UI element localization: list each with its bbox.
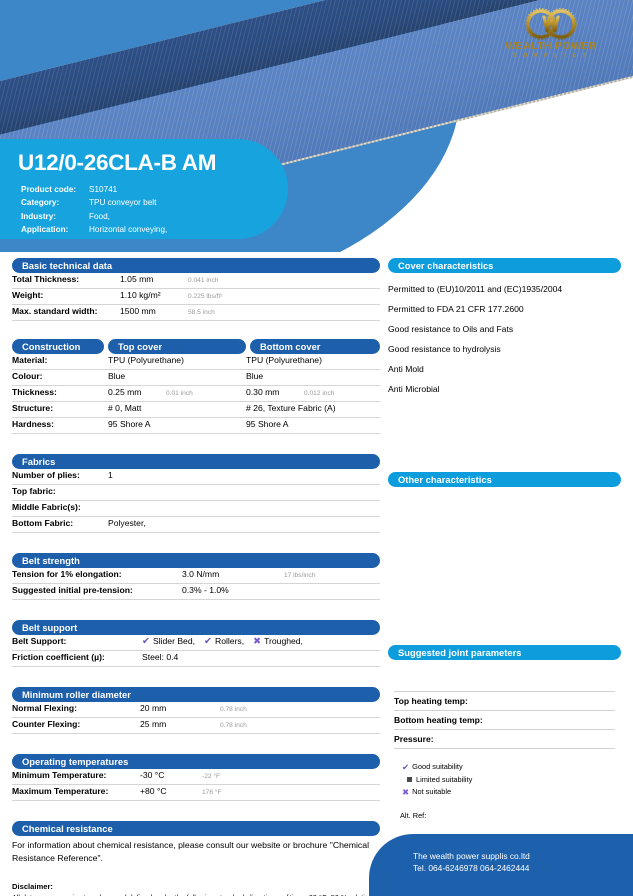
check-icon: ✔ bbox=[402, 761, 409, 774]
row-label: Belt Support: bbox=[12, 636, 142, 646]
interlocked-rings-emblem-icon bbox=[525, 8, 577, 42]
meta-row-industry: Industry: Food, bbox=[21, 210, 167, 223]
table-row: Suggested initial pre-tension: 0.3% - 1.… bbox=[12, 584, 380, 600]
section-other-characteristics: Other characteristics bbox=[388, 472, 621, 493]
chemical-resistance-text: For information about chemical resistanc… bbox=[12, 836, 380, 866]
row-label: Minimum Temperature: bbox=[12, 770, 140, 780]
right-column: Cover characteristics Permitted to (EU)1… bbox=[388, 258, 621, 832]
legend-item-limited: Limited suitability bbox=[402, 774, 615, 787]
support-option-label: Rollers, bbox=[215, 636, 244, 646]
row-value: 25 mm bbox=[140, 719, 220, 729]
row-top-cover: Blue bbox=[108, 371, 246, 381]
section-roller-diameter: Minimum roller diameter Normal Flexing: … bbox=[12, 687, 380, 734]
table-row: Counter Flexing: 25 mm 0.78 inch bbox=[12, 718, 380, 734]
row-label: Counter Flexing: bbox=[12, 719, 140, 729]
row-bottom-cover: TPU (Polyurethane) bbox=[246, 355, 380, 365]
section-header: Belt support bbox=[12, 620, 380, 635]
table-row: Middle Fabric(s): bbox=[12, 501, 380, 517]
cell-value: Blue bbox=[108, 371, 125, 381]
square-icon bbox=[407, 777, 412, 782]
column-header-construction: Construction bbox=[12, 339, 104, 354]
cover-characteristics-list: Permitted to (EU)10/2011 and (EC)1935/20… bbox=[388, 273, 621, 399]
table-row: Top heating temp: bbox=[394, 692, 615, 711]
section-belt-support: Belt support Belt Support: ✔ Slider Bed,… bbox=[12, 620, 380, 667]
row-label: Top fabric: bbox=[12, 486, 108, 496]
legend-item-good: ✔ Good suitability bbox=[402, 761, 615, 774]
construction-header-row: Construction Top cover Bottom cover bbox=[12, 339, 380, 354]
cell-value: TPU (Polyurethane) bbox=[108, 355, 184, 365]
table-row: Max. standard width: 1500 mm 58.5 inch bbox=[12, 305, 380, 321]
cell-value: 0.30 mm bbox=[246, 387, 304, 397]
cell-value: 95 Shore A bbox=[108, 419, 151, 429]
list-item: Permitted to FDA 21 CFR 177.2600 bbox=[388, 299, 621, 319]
row-imperial: -22 °F bbox=[202, 773, 220, 780]
section-header: Minimum roller diameter bbox=[12, 687, 380, 702]
company-logo: WEALTH POWER S U P P L I E S bbox=[491, 8, 611, 66]
section-operating-temperatures: Operating temperatures Minimum Temperatu… bbox=[12, 754, 380, 801]
row-label: Middle Fabric(s): bbox=[12, 502, 108, 512]
table-row: Maximum Temperature: +80 °C 176 °F bbox=[12, 785, 380, 801]
row-value: -30 °C bbox=[140, 770, 202, 780]
suitability-legend: ✔ Good suitability Limited suitability ✖… bbox=[394, 761, 615, 799]
row-label: Number of plies: bbox=[12, 470, 108, 480]
table-row: Normal Flexing: 20 mm 0.78 inch bbox=[12, 702, 380, 718]
section-header: Basic technical data bbox=[12, 258, 380, 273]
row-label: Structure: bbox=[12, 403, 108, 413]
row-label: Total Thickness: bbox=[12, 274, 120, 284]
list-item: Anti Microbial bbox=[388, 379, 621, 399]
row-top-cover: 0.25 mm0.01 inch bbox=[108, 387, 246, 397]
list-item: Good resistance to Oils and Fats bbox=[388, 319, 621, 339]
table-row: Total Thickness: 1.05 mm 0.041 inch bbox=[12, 273, 380, 289]
meta-label: Industry: bbox=[21, 210, 89, 223]
cell-imperial: 0.01 inch bbox=[166, 390, 193, 397]
check-icon: ✔ bbox=[204, 636, 212, 647]
table-row: Structure: # 0, Matt # 26, Texture Fabri… bbox=[12, 402, 380, 418]
meta-value: Food, bbox=[89, 210, 110, 223]
row-imperial: 0.78 inch bbox=[220, 706, 247, 713]
table-row: Tension for 1% elongation: 3.0 N/mm 17 l… bbox=[12, 568, 380, 584]
cell-imperial: 0.012 inch bbox=[304, 390, 334, 397]
meta-row-application: Application: Horizontal conveying, bbox=[21, 223, 167, 236]
table-row: Top fabric: bbox=[12, 485, 380, 501]
row-bottom-cover: Blue bbox=[246, 371, 380, 381]
list-item: Good resistance to hydrolysis bbox=[388, 339, 621, 359]
section-cover-characteristics: Cover characteristics Permitted to (EU)1… bbox=[388, 258, 621, 399]
row-value: 3.0 N/mm bbox=[182, 569, 284, 579]
table-row: Thickness: 0.25 mm0.01 inch 0.30 mm0.012… bbox=[12, 386, 380, 402]
cell-value: # 26, Texture Fabric (A) bbox=[246, 403, 336, 413]
table-row: Friction coefficient (µ): Steel: 0.4 bbox=[12, 651, 380, 667]
row-label: Hardness: bbox=[12, 419, 108, 429]
row-label: Bottom heating temp: bbox=[394, 715, 483, 725]
row-label: Max. standard width: bbox=[12, 306, 120, 316]
joint-spacer bbox=[394, 680, 615, 692]
cell-value: 95 Shore A bbox=[246, 419, 289, 429]
footer-company: The wealth power supplis co.ltd bbox=[413, 850, 530, 862]
table-row: Bottom Fabric: Polyester, bbox=[12, 517, 380, 533]
legend-item-not-suitable: ✖ Not suitable bbox=[402, 786, 615, 799]
table-row: Pressure: bbox=[394, 730, 615, 749]
table-row: Bottom heating temp: bbox=[394, 711, 615, 730]
page-title: U12/0-26CLA-B AM bbox=[18, 150, 216, 176]
alt-ref-label: Alt. Ref: bbox=[394, 811, 615, 820]
cell-value: # 0, Matt bbox=[108, 403, 141, 413]
row-imperial: 0.041 inch bbox=[188, 277, 218, 284]
section-header: Suggested joint parameters bbox=[388, 645, 621, 660]
section-header: Operating temperatures bbox=[12, 754, 380, 769]
section-chemical-resistance: Chemical resistance For information abou… bbox=[12, 821, 380, 866]
row-top-cover: TPU (Polyurethane) bbox=[108, 355, 246, 365]
row-value: 1.10 kg/m² bbox=[120, 290, 188, 300]
support-option-label: Slider Bed, bbox=[153, 636, 195, 646]
row-value: Polyester, bbox=[108, 518, 146, 528]
list-item: Anti Mold bbox=[388, 359, 621, 379]
disclaimer-block: Disclaimer: All data are approximate val… bbox=[12, 882, 380, 896]
table-row: Number of plies: 1 bbox=[12, 469, 380, 485]
row-label: Top heating temp: bbox=[394, 696, 468, 706]
row-value: 0.3% - 1.0% bbox=[182, 585, 284, 595]
product-title-bar: U12/0-26CLA-B AM Product code: S10741 Ca… bbox=[0, 139, 288, 239]
product-meta: Product code: S10741 Category: TPU conve… bbox=[21, 183, 167, 237]
legend-label: Good suitability bbox=[412, 761, 463, 774]
table-row: Hardness: 95 Shore A 95 Shore A bbox=[12, 418, 380, 434]
footer-telephone: Tel. 064-6246978 064-2462444 bbox=[413, 862, 530, 874]
other-characteristics-list bbox=[388, 487, 621, 493]
cell-value: 0.25 mm bbox=[108, 387, 166, 397]
logo-wordmark: WEALTH POWER bbox=[491, 41, 611, 52]
row-label: Colour: bbox=[12, 371, 108, 381]
meta-value: S10741 bbox=[89, 183, 117, 196]
meta-value: TPU conveyor belt bbox=[89, 196, 156, 209]
cell-value: Blue bbox=[246, 371, 263, 381]
column-header-bottom-cover: Bottom cover bbox=[250, 339, 380, 354]
row-label: Tension for 1% elongation: bbox=[12, 569, 182, 579]
table-row: Belt Support: ✔ Slider Bed, ✔ Rollers, ✖… bbox=[12, 635, 380, 651]
left-column: Basic technical data Total Thickness: 1.… bbox=[12, 258, 380, 896]
logo-tagline: S U P P L I E S bbox=[491, 54, 611, 59]
row-imperial: 58.5 inch bbox=[188, 309, 215, 316]
row-value: 1 bbox=[108, 470, 113, 480]
table-row: Material: TPU (Polyurethane) TPU (Polyur… bbox=[12, 354, 380, 370]
section-header: Belt strength bbox=[12, 553, 380, 568]
row-bottom-cover: 95 Shore A bbox=[246, 419, 380, 429]
row-top-cover: 95 Shore A bbox=[108, 419, 246, 429]
row-bottom-cover: 0.30 mm0.012 inch bbox=[246, 387, 380, 397]
datasheet-page: WEALTH POWER S U P P L I E S U12/0-26CLA… bbox=[0, 0, 633, 896]
row-label: Maximum Temperature: bbox=[12, 786, 140, 796]
legend-label: Limited suitability bbox=[416, 774, 472, 787]
row-value: +80 °C bbox=[140, 786, 202, 796]
list-item: Permitted to (EU)10/2011 and (EC)1935/20… bbox=[388, 279, 621, 299]
section-basic-technical-data: Basic technical data Total Thickness: 1.… bbox=[12, 258, 380, 321]
meta-label: Category: bbox=[21, 196, 89, 209]
section-fabrics: Fabrics Number of plies: 1 Top fabric: M… bbox=[12, 454, 380, 533]
section-header: Other characteristics bbox=[388, 472, 621, 487]
row-value: Steel: 0.4 bbox=[142, 652, 178, 662]
meta-row-category: Category: TPU conveyor belt bbox=[21, 196, 167, 209]
row-top-cover: # 0, Matt bbox=[108, 403, 246, 413]
row-label: Thickness: bbox=[12, 387, 108, 397]
row-value: 1.05 mm bbox=[120, 274, 188, 284]
row-imperial: 17 lbs/inch bbox=[284, 572, 316, 579]
cell-value: TPU (Polyurethane) bbox=[246, 355, 322, 365]
row-label: Pressure: bbox=[394, 734, 434, 744]
legend-label: Not suitable bbox=[412, 786, 451, 799]
row-value: 1500 mm bbox=[120, 306, 188, 316]
section-construction: Construction Top cover Bottom cover Mate… bbox=[12, 339, 380, 434]
table-row: Minimum Temperature: -30 °C -22 °F bbox=[12, 769, 380, 785]
row-label: Friction coefficient (µ): bbox=[12, 652, 142, 662]
section-belt-strength: Belt strength Tension for 1% elongation:… bbox=[12, 553, 380, 600]
column-header-top-cover: Top cover bbox=[108, 339, 246, 354]
cross-icon: ✖ bbox=[253, 636, 261, 647]
section-joint-parameters: Suggested joint parameters Top heating t… bbox=[388, 645, 621, 820]
table-row: Colour: Blue Blue bbox=[12, 370, 380, 386]
section-header: Chemical resistance bbox=[12, 821, 380, 836]
meta-label: Application: bbox=[21, 223, 89, 236]
meta-row-product-code: Product code: S10741 bbox=[21, 183, 167, 196]
check-icon: ✔ bbox=[142, 636, 150, 647]
row-value: 20 mm bbox=[140, 703, 220, 713]
footer-contact: The wealth power supplis co.ltd Tel. 064… bbox=[413, 850, 530, 875]
section-header: Cover characteristics bbox=[388, 258, 621, 273]
row-label: Normal Flexing: bbox=[12, 703, 140, 713]
cross-icon: ✖ bbox=[402, 786, 409, 799]
row-bottom-cover: # 26, Texture Fabric (A) bbox=[246, 403, 380, 413]
row-imperial: 176 °F bbox=[202, 789, 222, 796]
row-label: Material: bbox=[12, 355, 108, 365]
row-label: Bottom Fabric: bbox=[12, 518, 108, 528]
row-imperial: 0.78 inch bbox=[220, 722, 247, 729]
row-label: Suggested initial pre-tension: bbox=[12, 585, 182, 595]
section-header: Fabrics bbox=[12, 454, 380, 469]
support-option-label: Troughed, bbox=[264, 636, 303, 646]
meta-label: Product code: bbox=[21, 183, 89, 196]
row-label: Weight: bbox=[12, 290, 120, 300]
page-footer: The wealth power supplis co.ltd Tel. 064… bbox=[369, 834, 633, 896]
meta-value: Horizontal conveying, bbox=[89, 223, 167, 236]
table-row: Weight: 1.10 kg/m² 0.225 lbs/ft² bbox=[12, 289, 380, 305]
row-imperial: 0.225 lbs/ft² bbox=[188, 293, 222, 300]
disclaimer-title: Disclaimer: bbox=[12, 882, 380, 891]
